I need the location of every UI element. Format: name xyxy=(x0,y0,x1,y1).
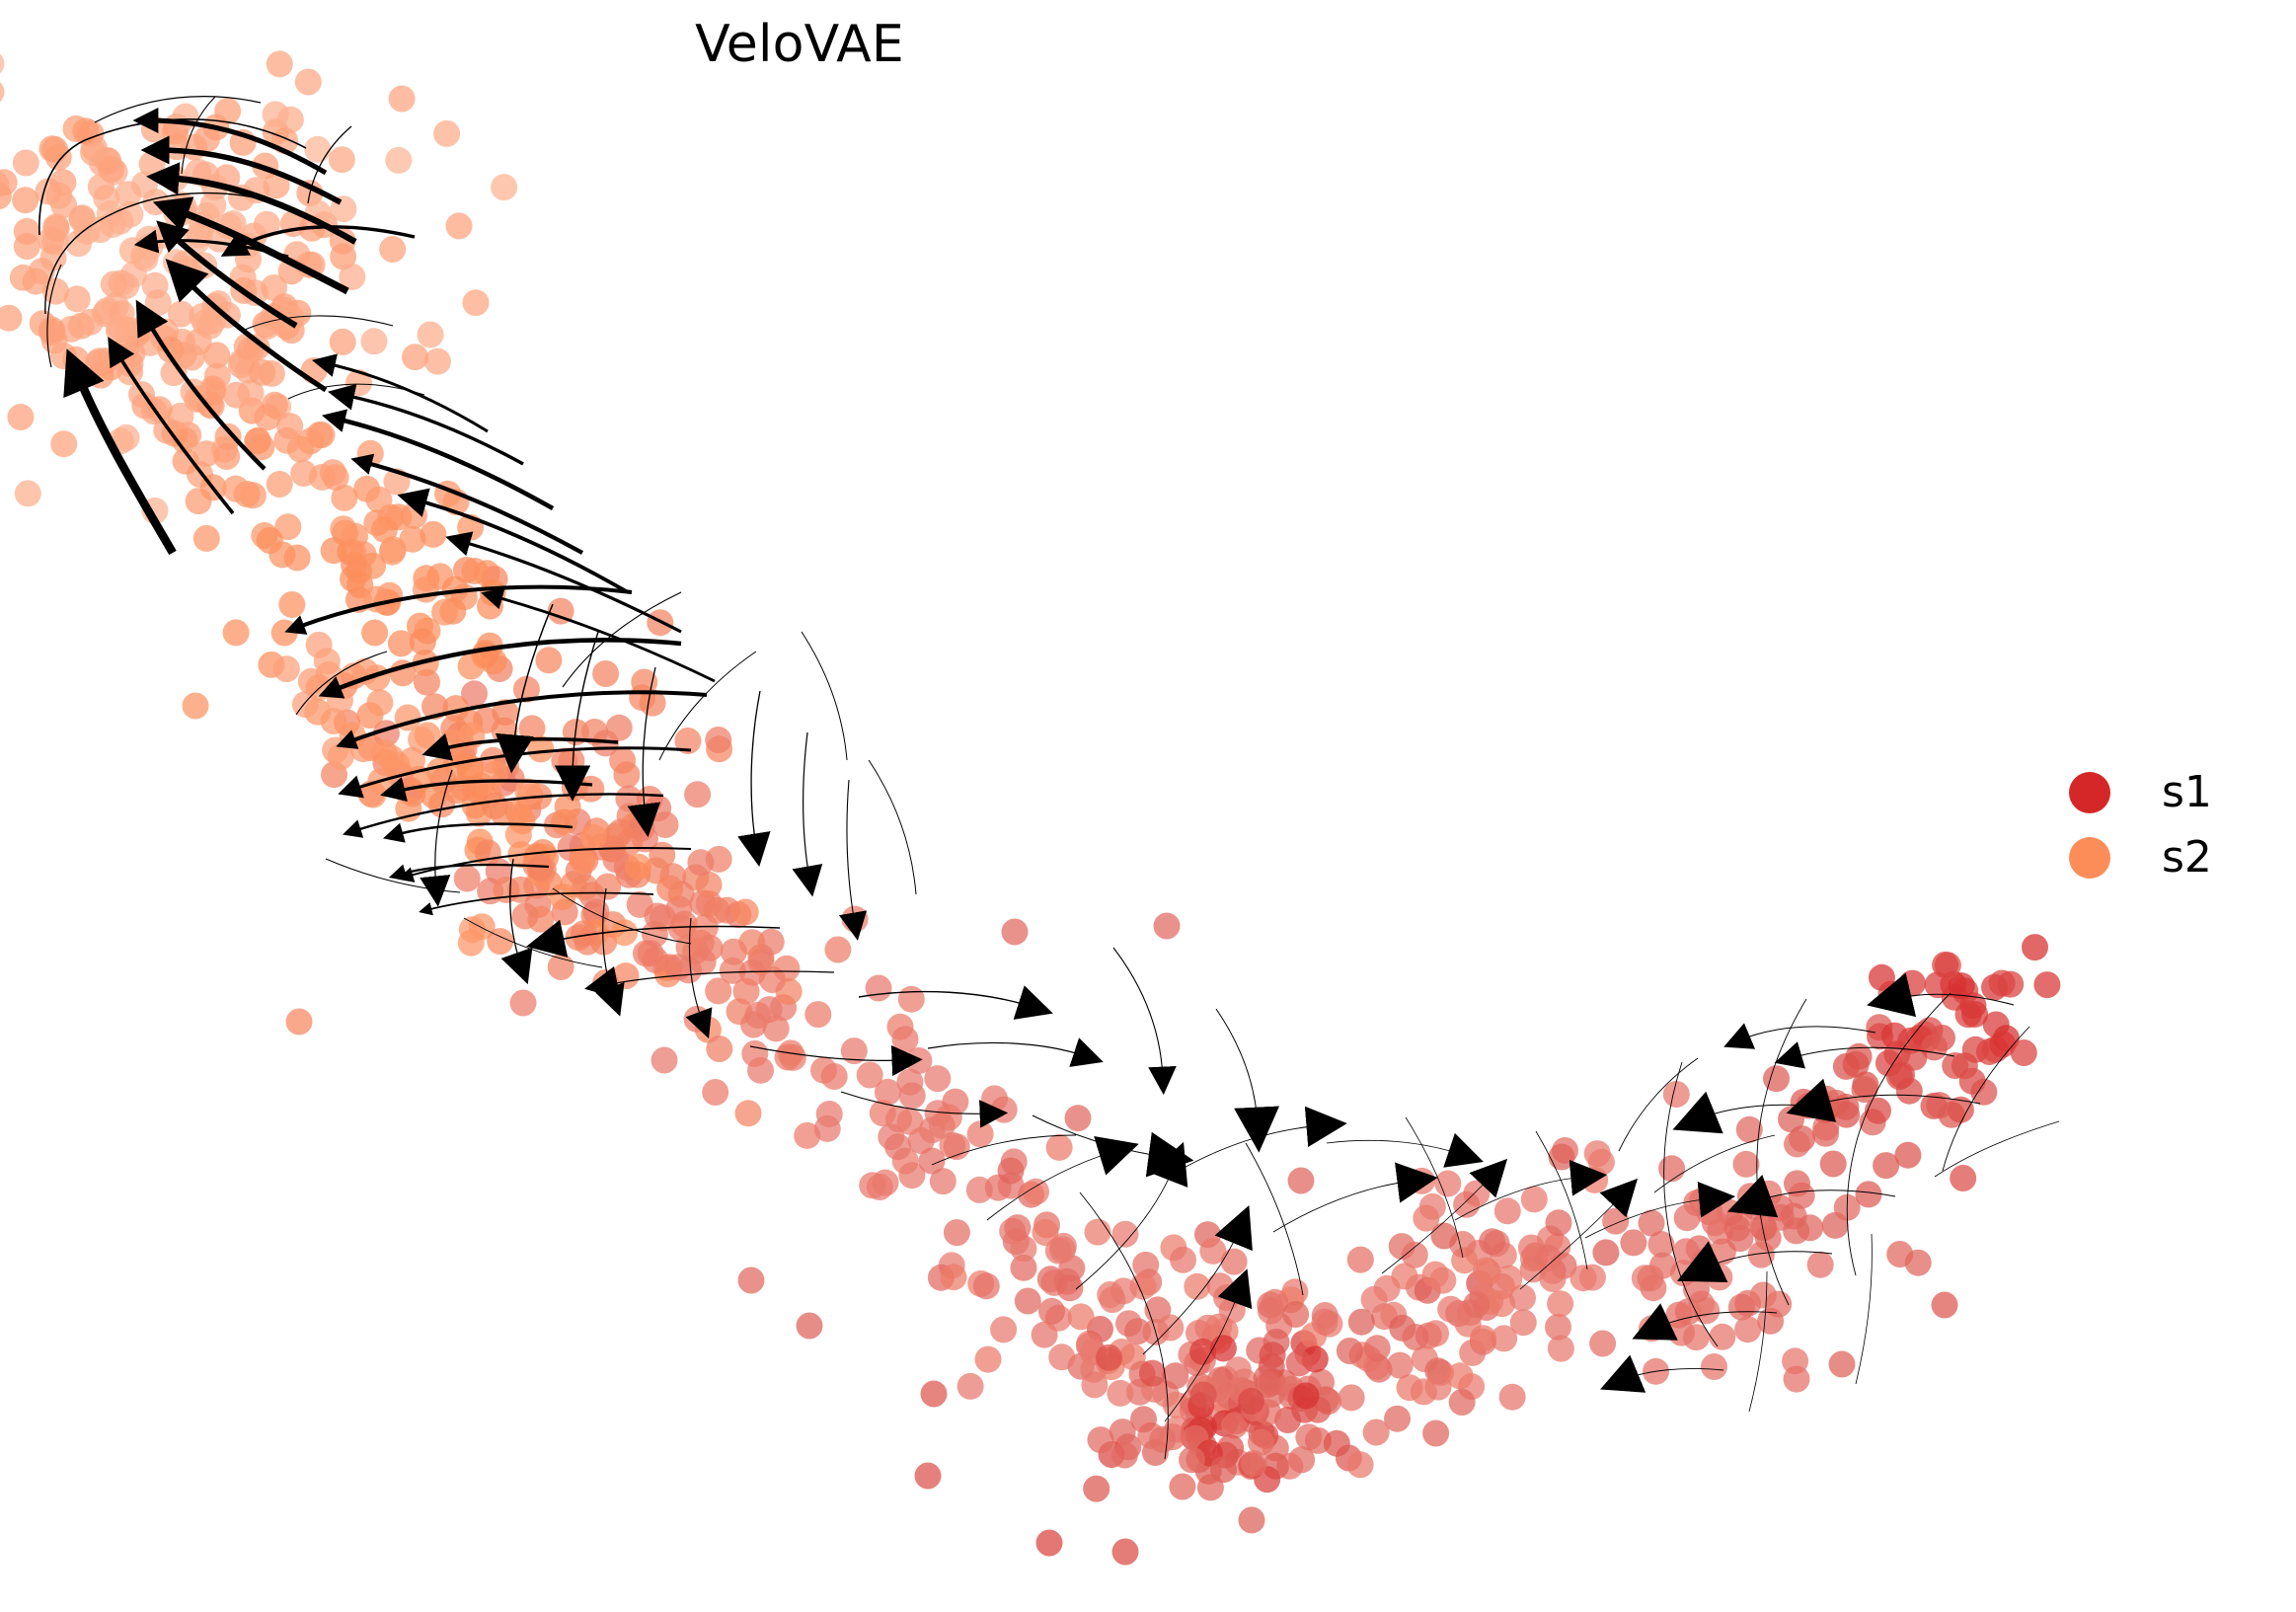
scatter-point xyxy=(77,309,104,336)
scatter-point xyxy=(1387,1352,1414,1379)
scatter-point xyxy=(732,899,759,926)
scatter-point xyxy=(759,966,786,993)
scatter-point xyxy=(142,272,169,299)
scatter-point xyxy=(461,558,488,584)
scatter-point xyxy=(2033,971,2060,998)
scatter-point xyxy=(361,328,388,354)
scatter-point xyxy=(1733,1151,1760,1178)
scatter-point xyxy=(1510,1309,1537,1336)
scatter-point xyxy=(617,829,644,856)
scatter-point xyxy=(1239,1506,1265,1533)
scatter-point xyxy=(1674,1204,1701,1231)
scatter-point xyxy=(1869,964,1895,991)
scatter-point xyxy=(491,174,517,200)
scatter-point xyxy=(549,883,575,910)
scatter-point xyxy=(131,171,158,197)
scatter-point xyxy=(1665,1302,1692,1329)
scatter-point xyxy=(1221,1249,1248,1275)
scatter-point xyxy=(1170,1247,1196,1273)
scatter-point xyxy=(915,1463,942,1490)
stream-line xyxy=(1246,1143,1303,1295)
scatter-point xyxy=(896,1069,923,1096)
scatter-point xyxy=(548,954,574,980)
scatter-point xyxy=(424,348,451,375)
scatter-point xyxy=(574,929,601,956)
scatter-point xyxy=(410,629,436,655)
scatter-point xyxy=(1726,1225,1753,1252)
scatter-point xyxy=(1683,1276,1710,1303)
scatter-point xyxy=(1638,1265,1664,1291)
stream-line xyxy=(928,1042,1086,1056)
scatter-point xyxy=(1312,1309,1339,1336)
scatter-point xyxy=(1004,1214,1031,1241)
figure-root: VeloVAE s1 s2 xyxy=(0,0,2296,1612)
scatter-point xyxy=(1549,1144,1575,1171)
scatter-point xyxy=(775,1044,802,1071)
scatter-point xyxy=(267,50,293,77)
scatter-point xyxy=(551,808,577,835)
scatter-point xyxy=(1548,1336,1574,1362)
scatter-point xyxy=(866,975,892,1002)
scatter-point xyxy=(439,729,466,756)
scatter-point xyxy=(1709,1324,1735,1350)
scatter-point xyxy=(975,1346,1002,1373)
scatter-point xyxy=(1437,1296,1464,1323)
scatter-point xyxy=(459,916,486,943)
scatter-point xyxy=(527,855,554,882)
scatter-point xyxy=(295,69,322,96)
scatter-point xyxy=(1431,1223,1458,1250)
scatter-point xyxy=(1282,1301,1309,1328)
scatter-point xyxy=(329,146,355,173)
scatter-point xyxy=(328,743,354,770)
scatter-point xyxy=(797,1313,823,1340)
scatter-point xyxy=(1447,1362,1474,1389)
scatter-point xyxy=(263,101,289,127)
scatter-point xyxy=(0,79,5,106)
scatter-point xyxy=(1036,1530,1063,1557)
stream-line xyxy=(1619,1058,1698,1151)
scatter-point xyxy=(592,660,619,687)
scatter-point xyxy=(741,1040,768,1067)
stream-line xyxy=(1739,1027,1875,1040)
scatter-point xyxy=(0,305,23,332)
scatter-point xyxy=(15,480,41,506)
scatter-point xyxy=(475,839,501,866)
scatter-point xyxy=(1339,1384,1365,1411)
scatter-point xyxy=(267,471,293,498)
scatter-point xyxy=(1989,970,2016,997)
scatter-point xyxy=(1286,1349,1313,1376)
scatter-point xyxy=(1207,1272,1234,1299)
scatter-point xyxy=(1820,1151,1847,1178)
scatter-point xyxy=(898,986,925,1013)
scatter-point xyxy=(273,427,300,454)
scatter-point xyxy=(705,727,731,753)
scatter-point xyxy=(991,1097,1018,1123)
legend-label-s2: s2 xyxy=(2162,836,2212,880)
scatter-point xyxy=(580,824,607,851)
scatter-point xyxy=(998,1158,1025,1185)
scatter-point xyxy=(1096,1344,1122,1371)
scatter-point xyxy=(1900,1044,1927,1071)
scatter-point xyxy=(7,404,34,430)
scatter-point xyxy=(1663,1081,1690,1108)
scatter-point xyxy=(884,1133,911,1160)
scatter-point xyxy=(1403,1324,1429,1350)
scatter-point xyxy=(642,947,668,973)
scatter-point xyxy=(1324,1430,1350,1457)
stream-line xyxy=(802,632,847,760)
scatter-points xyxy=(0,50,2060,1565)
scatter-point xyxy=(1139,1360,1166,1387)
scatter-point xyxy=(359,553,386,579)
scatter-point xyxy=(1829,1351,1856,1378)
scatter-point xyxy=(1873,1152,1899,1179)
scatter-point xyxy=(1337,1338,1363,1364)
scatter-point xyxy=(1852,1076,1878,1103)
scatter-point xyxy=(107,208,133,235)
stream-line xyxy=(804,732,809,879)
scatter-point xyxy=(1046,1134,1073,1161)
scatter-point xyxy=(183,693,209,720)
scatter-point xyxy=(738,1267,765,1294)
scatter-point xyxy=(1293,1382,1320,1409)
scatter-point xyxy=(50,343,77,369)
scatter-point xyxy=(1763,1065,1790,1092)
scatter-point xyxy=(973,1272,1000,1299)
scatter-point xyxy=(45,183,72,209)
scatter-point xyxy=(1509,1284,1536,1311)
scatter-point xyxy=(12,187,38,213)
scatter-point xyxy=(389,86,416,113)
scatter-point xyxy=(413,576,439,603)
scatter-point xyxy=(1130,1406,1157,1432)
scatter-point xyxy=(1154,913,1181,940)
scatter-point xyxy=(627,891,653,918)
scatter-point xyxy=(692,914,719,941)
scatter-point xyxy=(1702,1209,1728,1236)
scatter-point xyxy=(378,744,405,771)
scatter-point xyxy=(1475,1260,1501,1286)
scatter-point xyxy=(1241,1450,1267,1477)
stream-line xyxy=(847,780,855,924)
scatter-point xyxy=(957,1373,984,1400)
scatter-point xyxy=(821,1063,848,1090)
scatter-point xyxy=(168,301,194,328)
scatter-point xyxy=(38,227,64,254)
scatter-point xyxy=(193,440,220,467)
scatter-point xyxy=(1288,1446,1315,1473)
scatter-point xyxy=(1179,1446,1205,1473)
scatter-point xyxy=(690,949,717,975)
scatter-point xyxy=(1843,1051,1870,1078)
scatter-point xyxy=(1886,1241,1913,1267)
scatter-point xyxy=(1499,1384,1526,1411)
scatter-point xyxy=(50,430,77,457)
scatter-point xyxy=(262,392,288,419)
scatter-point xyxy=(0,50,4,77)
scatter-point xyxy=(1347,1247,1374,1273)
scatter-point xyxy=(1002,919,1029,946)
scatter-point xyxy=(512,903,539,930)
scatter-point xyxy=(1434,1171,1461,1197)
scatter-point xyxy=(1592,1239,1619,1266)
scatter-point xyxy=(652,811,679,838)
scatter-point xyxy=(656,876,683,902)
scatter-point xyxy=(402,344,428,370)
velocity-streamplot xyxy=(0,0,2296,1612)
scatter-point xyxy=(222,476,249,502)
scatter-point xyxy=(535,647,562,673)
scatter-point xyxy=(1470,1325,1496,1351)
scatter-point xyxy=(684,1006,711,1033)
scatter-point xyxy=(1050,1233,1077,1260)
scatter-point xyxy=(1899,970,1926,997)
scatter-point xyxy=(1463,1291,1490,1318)
scatter-point xyxy=(1088,1426,1114,1453)
scatter-point xyxy=(1942,1052,1968,1079)
scatter-point xyxy=(379,236,406,263)
scatter-point xyxy=(278,591,305,618)
stream-line xyxy=(751,691,760,847)
scatter-point xyxy=(14,218,40,245)
scatter-point xyxy=(1210,1335,1237,1361)
scatter-point xyxy=(88,174,115,200)
scatter-point xyxy=(1107,1380,1133,1407)
scatter-point xyxy=(967,1120,994,1147)
scatter-point xyxy=(1856,1181,1882,1207)
stream-line xyxy=(1935,1121,2059,1177)
scatter-point xyxy=(1065,1105,1092,1131)
scatter-point xyxy=(1547,1290,1573,1317)
scatter-point xyxy=(814,1115,841,1142)
scatter-point xyxy=(1784,1366,1810,1393)
scatter-point xyxy=(321,537,347,564)
scatter-point xyxy=(433,120,460,147)
scatter-point xyxy=(330,329,356,355)
scatter-point xyxy=(1479,1228,1505,1255)
scatter-point xyxy=(1159,1423,1186,1450)
scatter-point xyxy=(706,1036,732,1062)
scatter-point xyxy=(1190,1382,1217,1409)
scatter-point xyxy=(1807,1252,1834,1278)
scatter-point xyxy=(1535,1245,1562,1271)
legend-label-s1: s1 xyxy=(2162,771,2212,814)
scatter-point xyxy=(944,1219,970,1246)
scatter-point xyxy=(921,1381,948,1408)
scatter-point xyxy=(1620,1229,1646,1256)
scatter-point xyxy=(223,619,250,646)
scatter-point xyxy=(687,849,714,876)
scatter-point xyxy=(101,271,127,298)
scatter-point xyxy=(1111,1442,1138,1469)
scatter-point xyxy=(1639,1315,1665,1342)
scatter-point xyxy=(613,962,640,989)
scatter-point xyxy=(892,1026,919,1052)
scatter-point xyxy=(873,1170,899,1196)
stream-line xyxy=(1179,1125,1323,1171)
scatter-point xyxy=(705,977,731,1004)
scatter-point xyxy=(420,521,446,548)
stream-line xyxy=(1327,1140,1463,1155)
scatter-point xyxy=(804,1001,831,1028)
scatter-point xyxy=(290,460,317,487)
scatter-point xyxy=(1784,1131,1810,1158)
scatter-point xyxy=(2022,934,2048,960)
scatter-point xyxy=(366,689,393,716)
scatter-point xyxy=(936,1104,962,1130)
scatter-point xyxy=(271,620,298,647)
scatter-point xyxy=(463,289,490,316)
scatter-point xyxy=(1521,1186,1548,1212)
scatter-point xyxy=(13,150,39,177)
scatter-point xyxy=(1932,952,1958,978)
scatter-point xyxy=(309,422,336,448)
scatter-point xyxy=(857,1062,883,1089)
scatter-point xyxy=(1015,1288,1041,1315)
scatter-point xyxy=(684,781,711,807)
scatter-point xyxy=(1347,1451,1374,1478)
scatter-point xyxy=(286,1009,313,1036)
scatter-point xyxy=(594,874,621,900)
scatter-point xyxy=(1926,1092,1952,1118)
scatter-point xyxy=(941,1264,967,1290)
scatter-point xyxy=(454,866,481,892)
scatter-point xyxy=(1950,1165,1976,1191)
scatter-point xyxy=(744,1002,771,1029)
scatter-point xyxy=(570,847,596,874)
scatter-point xyxy=(990,1316,1017,1343)
scatter-point xyxy=(1048,1343,1075,1370)
scatter-point xyxy=(304,136,331,163)
scatter-point xyxy=(1734,1316,1761,1343)
scatter-point xyxy=(1781,1203,1807,1230)
scatter-point xyxy=(1057,1274,1084,1301)
scatter-point xyxy=(1742,1193,1769,1220)
scatter-point xyxy=(1038,1298,1065,1325)
scatter-point xyxy=(1570,1265,1597,1291)
scatter-point xyxy=(418,322,444,348)
scatter-point xyxy=(1085,1219,1111,1246)
scatter-point xyxy=(1932,1292,1958,1319)
scatter-point xyxy=(738,929,765,956)
scatter-point xyxy=(1083,1476,1110,1502)
scatter-point xyxy=(320,459,346,486)
scatter-point xyxy=(1391,1263,1417,1289)
scatter-point xyxy=(1288,1168,1315,1194)
scatter-point xyxy=(1494,1197,1521,1224)
stream-line xyxy=(869,760,916,894)
scatter-point xyxy=(1110,1277,1137,1304)
scatter-point xyxy=(1422,1420,1449,1447)
scatter-point xyxy=(1210,1456,1237,1483)
scatter-point xyxy=(1363,1420,1390,1446)
scatter-point xyxy=(1169,1474,1195,1500)
scatter-point xyxy=(1588,1149,1615,1176)
scatter-point xyxy=(1364,1335,1391,1361)
scatter-point xyxy=(482,793,508,819)
scatter-point xyxy=(651,1047,678,1074)
scatter-point xyxy=(606,715,633,741)
scatter-point xyxy=(385,147,412,174)
scatter-point xyxy=(234,334,261,360)
scatter-point xyxy=(611,919,638,946)
scatter-point xyxy=(824,937,851,963)
scatter-point xyxy=(135,226,162,253)
scatter-point xyxy=(1238,1388,1264,1415)
scatter-point xyxy=(1546,1209,1572,1236)
legend-item-s1[interactable]: s1 xyxy=(2069,760,2276,825)
legend: s1 s2 xyxy=(2069,760,2276,890)
scatter-point xyxy=(249,359,275,386)
scatter-point xyxy=(733,978,760,1005)
scatter-point xyxy=(924,1065,951,1092)
scatter-point xyxy=(1449,1389,1476,1416)
filled-circle-marker-icon xyxy=(2069,772,2110,813)
filled-circle-marker-icon xyxy=(2069,837,2110,879)
scatter-point xyxy=(1750,1282,1777,1309)
scatter-point xyxy=(896,1109,923,1135)
scatter-point xyxy=(107,314,133,341)
scatter-point xyxy=(458,653,485,680)
scatter-point xyxy=(193,525,220,552)
scatter-point xyxy=(1419,1193,1446,1220)
scatter-point xyxy=(1589,1331,1616,1357)
scatter-point xyxy=(577,776,604,803)
scatter-point xyxy=(494,877,520,903)
scatter-point xyxy=(446,212,473,239)
stream-line xyxy=(1113,948,1163,1078)
scatter-point xyxy=(702,1079,728,1106)
scatter-point xyxy=(284,545,311,572)
scatter-point xyxy=(625,854,651,881)
scatter-point xyxy=(1961,1001,1988,1028)
stream-line xyxy=(1216,1009,1258,1125)
scatter-point xyxy=(1348,1309,1375,1336)
scatter-point xyxy=(1658,1155,1685,1182)
scatter-point xyxy=(273,655,300,682)
scatter-point xyxy=(1422,1262,1449,1288)
stream-line xyxy=(1856,1234,1872,1384)
scatter-point xyxy=(510,990,537,1017)
scatter-point xyxy=(363,586,390,613)
scatter-point xyxy=(735,1100,762,1126)
scatter-point xyxy=(642,921,668,948)
scatter-point xyxy=(1112,1539,1139,1566)
scatter-point xyxy=(482,761,508,788)
scatter-point xyxy=(842,906,869,933)
legend-item-s2[interactable]: s2 xyxy=(2069,825,2276,890)
scatter-point xyxy=(1701,1353,1727,1380)
stream-line xyxy=(326,859,460,892)
scatter-point xyxy=(361,620,388,647)
